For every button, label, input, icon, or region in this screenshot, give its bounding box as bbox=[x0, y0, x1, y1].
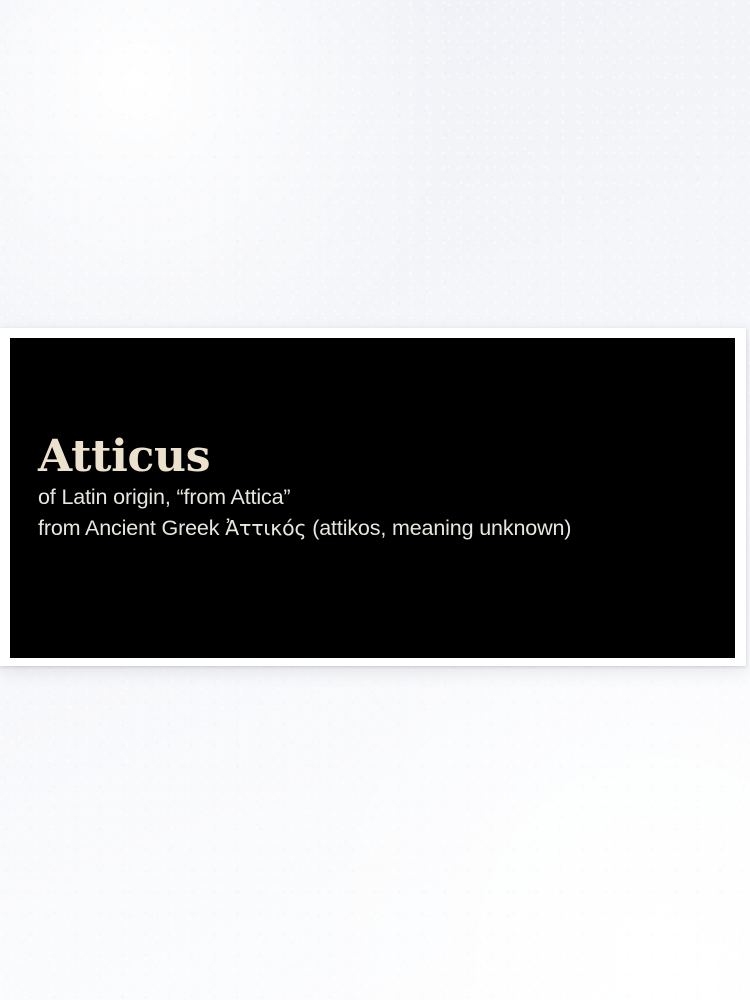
poster-title: Atticus bbox=[38, 435, 723, 480]
poster-greek-line: from Ancient Greek Ἀττικός (attikos, mea… bbox=[38, 513, 723, 544]
poster-origin-line: of Latin origin, “from Attica” bbox=[38, 482, 723, 513]
greek-line-suffix: (attikos, meaning unknown) bbox=[306, 516, 571, 540]
poster-canvas: Atticus of Latin origin, “from Attica” f… bbox=[10, 338, 735, 658]
poster-text-block: Atticus of Latin origin, “from Attica” f… bbox=[38, 435, 723, 543]
poster-frame[interactable]: Atticus of Latin origin, “from Attica” f… bbox=[0, 328, 746, 666]
greek-word: Ἀττικός bbox=[225, 516, 306, 540]
greek-line-prefix: from Ancient Greek bbox=[38, 516, 225, 540]
